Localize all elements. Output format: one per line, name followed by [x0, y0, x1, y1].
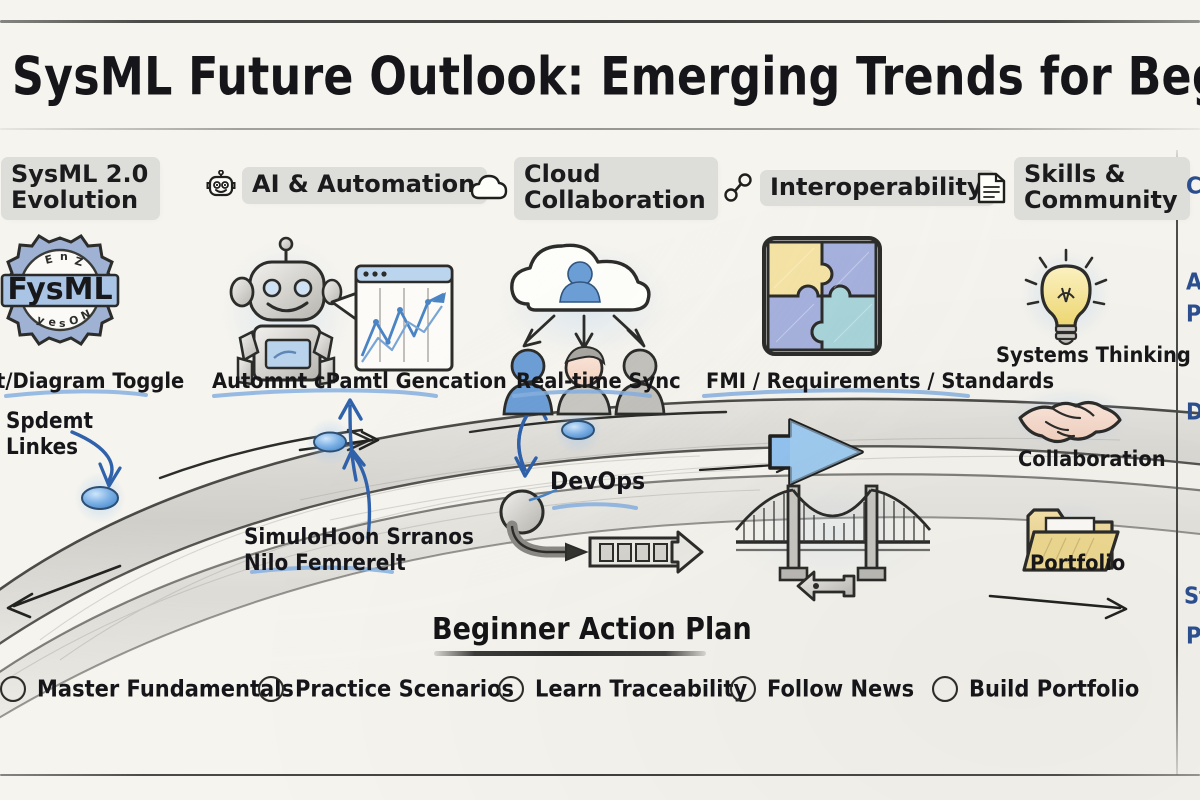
sidebar-fragment-3: D [1186, 398, 1200, 425]
action-item-follow-news[interactable]: Follow News [730, 676, 914, 702]
bottom-border-rule [0, 774, 1200, 776]
column-header-label: AI & Automation [252, 170, 475, 198]
cloud-icon [470, 174, 508, 202]
column-header-ai[interactable]: AI & Automation [206, 170, 484, 201]
action-plan-list: Master Fundamentals Practice Scenarios L… [0, 676, 1180, 716]
caption-cloud: Real-time Sync [516, 368, 681, 393]
robot-icon [206, 170, 236, 200]
column-header-interop[interactable]: Interoperability [722, 172, 992, 204]
column-header-label: Skills & Community [1024, 160, 1178, 214]
skills-label-systems-thinking: Systems Thinking [996, 342, 1191, 367]
checkbox-icon[interactable] [258, 676, 284, 702]
sidebar-fragment-2: P [1186, 300, 1200, 327]
svg-text:n: n [60, 250, 68, 263]
sidebar-fragment-5: P [1186, 622, 1200, 649]
action-item-label: Follow News [767, 676, 914, 702]
link-node-icon [722, 172, 754, 204]
action-item-label: Build Portfolio [969, 676, 1139, 702]
action-item-master-fundamentals[interactable]: Master Fundamentals [0, 676, 294, 702]
column-header-sysml2[interactable]: SysML 2.0 Evolution [4, 160, 157, 217]
sidebar-fragment-4: St [1184, 582, 1200, 609]
action-item-label: Master Fundamentals [37, 676, 294, 702]
action-item-learn-traceability[interactable]: Learn Traceability [498, 676, 747, 702]
checkbox-icon[interactable] [932, 676, 958, 702]
checkbox-icon[interactable] [730, 676, 756, 702]
caption-ai: Automnt cPamtl Gencation [212, 368, 507, 393]
action-item-practice-scenarios[interactable]: Practice Scenarios [258, 676, 514, 702]
action-item-build-portfolio[interactable]: Build Portfolio [932, 676, 1139, 702]
bridge-illustration [728, 474, 938, 600]
column-header-cloud[interactable]: Cloud Collaboration [470, 160, 715, 217]
action-item-label: Learn Traceability [535, 676, 747, 702]
annotation-system-links: Spdemt Linkes [6, 408, 93, 460]
checkbox-icon[interactable] [0, 676, 26, 702]
page-title: SysML Future Outlook: Emerging Trends fo… [12, 46, 1184, 107]
svg-text:FysML: FysML [7, 272, 112, 307]
handshake-illustration [1006, 386, 1134, 450]
action-item-label: Practice Scenarios [295, 676, 514, 702]
svg-text:s: s [59, 317, 66, 330]
top-border-rule [0, 20, 1200, 23]
poster-board: E n Z y e s O N FysML [0, 0, 1200, 800]
column-header-label: Cloud Collaboration [524, 160, 706, 214]
robot-illustration [220, 238, 452, 384]
puzzle-illustration [758, 232, 886, 360]
skills-label-portfolio: Portfolio [1030, 550, 1125, 575]
checkbox-icon[interactable] [498, 676, 524, 702]
skills-label-collaboration: Collaboration [1018, 446, 1166, 471]
column-header-label: SysML 2.0 Evolution [11, 160, 148, 214]
column-header-label: Interoperability [770, 173, 983, 201]
action-plan-title: Beginner Action Plan [432, 612, 752, 647]
caption-sysml2: t/Diagram Toggle [0, 368, 184, 393]
lightbulb-illustration [1020, 250, 1112, 344]
annotation-simulation-notes: SimuloHoon Srranos Nilo Femrerelt [244, 524, 474, 576]
caption-interop: FMI / Requirements / Standards [706, 368, 1054, 393]
sidebar-fragment-1: A [1186, 268, 1200, 295]
column-header-skills[interactable]: Skills & Community [976, 160, 1187, 217]
sidebar-fragment-0: C [1186, 172, 1200, 199]
action-plan-underline [434, 651, 706, 656]
title-underline-rule [0, 128, 1200, 130]
document-folder-icon [976, 171, 1008, 205]
annotation-devops: DevOps [550, 468, 645, 497]
sysml-badge-icon: E n Z y e s O N FysML [0, 230, 120, 350]
